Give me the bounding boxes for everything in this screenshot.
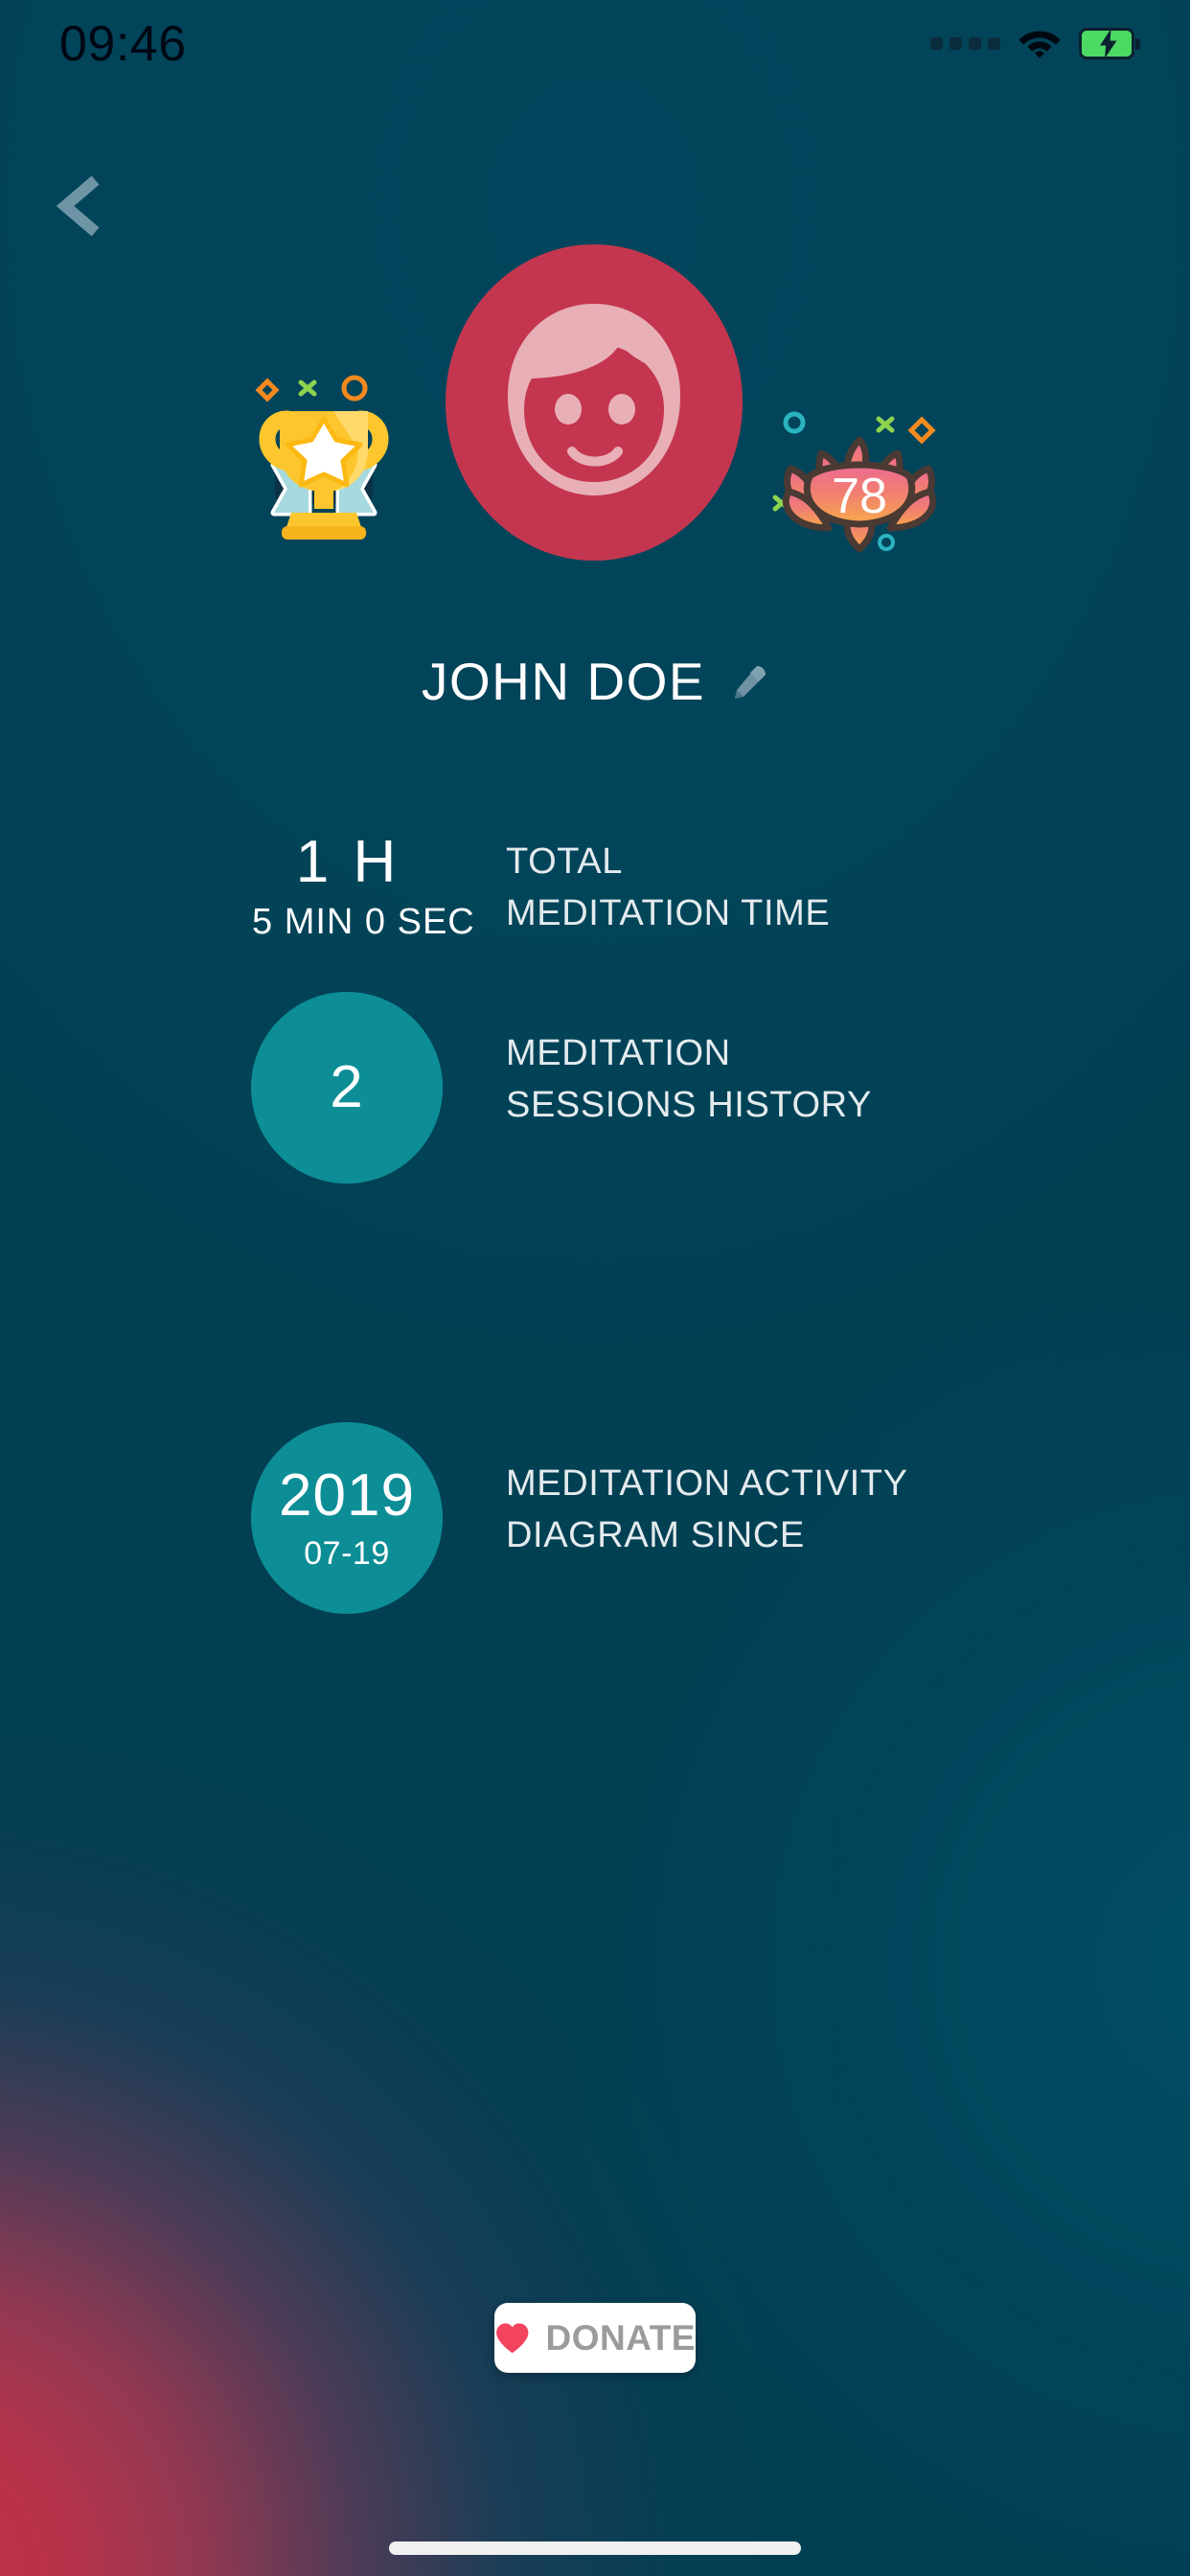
sessions-history-count: 2 [330,1058,363,1117]
activity-since-date: 07-19 [304,1537,389,1570]
sessions-history-label-line2: SESSIONS HISTORY [506,1080,1157,1132]
activity-since-label-line2: DIAGRAM SINCE [506,1510,1157,1562]
stat-row-sessions: 2 MEDITATION SESSIONS HISTORY [0,973,1190,1246]
user-avatar-face-icon [446,244,743,561]
donate-label: DONATE [546,2320,696,2356]
home-indicator-bar[interactable] [389,2541,801,2555]
lotus-badge[interactable]: 78 [771,398,949,556]
status-bar: 09:46 [0,0,1190,96]
total-time-hours: 1 H [252,833,444,892]
trophy-award-icon [241,369,404,541]
total-time-label: TOTAL MEDITATION TIME [506,837,1119,940]
lotus-badge-value: 78 [832,469,887,524]
total-time-label-line2: MEDITATION TIME [506,888,1119,940]
battery-charging-icon [1079,28,1140,59]
signal-dots-icon [930,37,1000,50]
donate-button[interactable]: DONATE [494,2303,696,2373]
back-button[interactable] [38,165,121,247]
wifi-icon [1018,27,1062,59]
sessions-history-label: MEDITATION SESSIONS HISTORY [506,1028,1157,1132]
activity-since-label-line1: MEDITATION ACTIVITY [506,1459,1157,1510]
profile-name-row: JOHN DOE [0,655,1190,708]
total-time-minutes-seconds: 5 MIN 0 SEC [252,904,444,940]
sparkle-group [259,378,365,399]
activity-since-year: 2019 [279,1466,415,1526]
heart-icon [494,2314,531,2362]
chevron-left-icon [38,165,121,247]
stats-list: 1 H 5 MIN 0 SEC TOTAL MEDITATION TIME 2 … [0,819,1190,1519]
stat-row-activity-since: 2019 07-19 MEDITATION ACTIVITY DIAGRAM S… [0,1246,1190,1519]
sessions-history-label-line1: MEDITATION [506,1028,1157,1080]
app-screen: 09:46 [0,0,1190,2576]
page-title: JOHN DOE [422,655,705,708]
pencil-edit-icon[interactable] [724,662,768,706]
total-time-label-line1: TOTAL [506,837,1119,888]
status-bar-indicators [930,27,1140,59]
avatar[interactable] [446,244,743,561]
status-bar-clock: 09:46 [59,15,187,73]
profile-header: 78 [0,230,1190,575]
activity-since-label: MEDITATION ACTIVITY DIAGRAM SINCE [506,1459,1157,1562]
trophy-badge[interactable] [241,369,404,541]
lotus-flower-icon: 78 [771,398,949,556]
total-time-value-block: 1 H 5 MIN 0 SEC [252,833,444,940]
sessions-history-circle[interactable]: 2 [251,992,443,1184]
stat-row-total-time: 1 H 5 MIN 0 SEC TOTAL MEDITATION TIME [0,819,1190,973]
activity-since-circle[interactable]: 2019 07-19 [251,1422,443,1614]
